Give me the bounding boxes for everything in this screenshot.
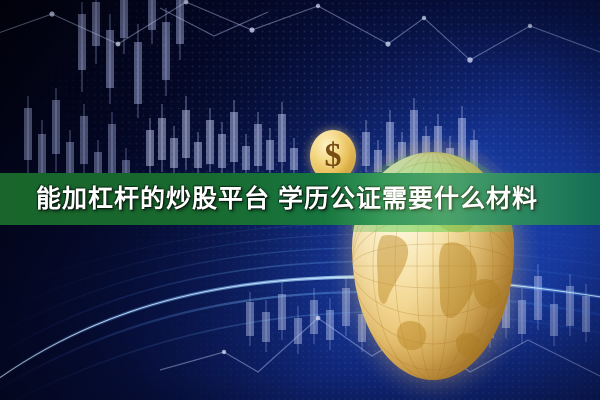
banner-image: $ 能加杠杆的炒股平台 学历公证需要什么材料 (0, 0, 600, 400)
page-title: 能加杠杆的炒股平台 学历公证需要什么材料 (36, 187, 538, 212)
title-banner: 能加杠杆的炒股平台 学历公证需要什么材料 (0, 173, 600, 225)
